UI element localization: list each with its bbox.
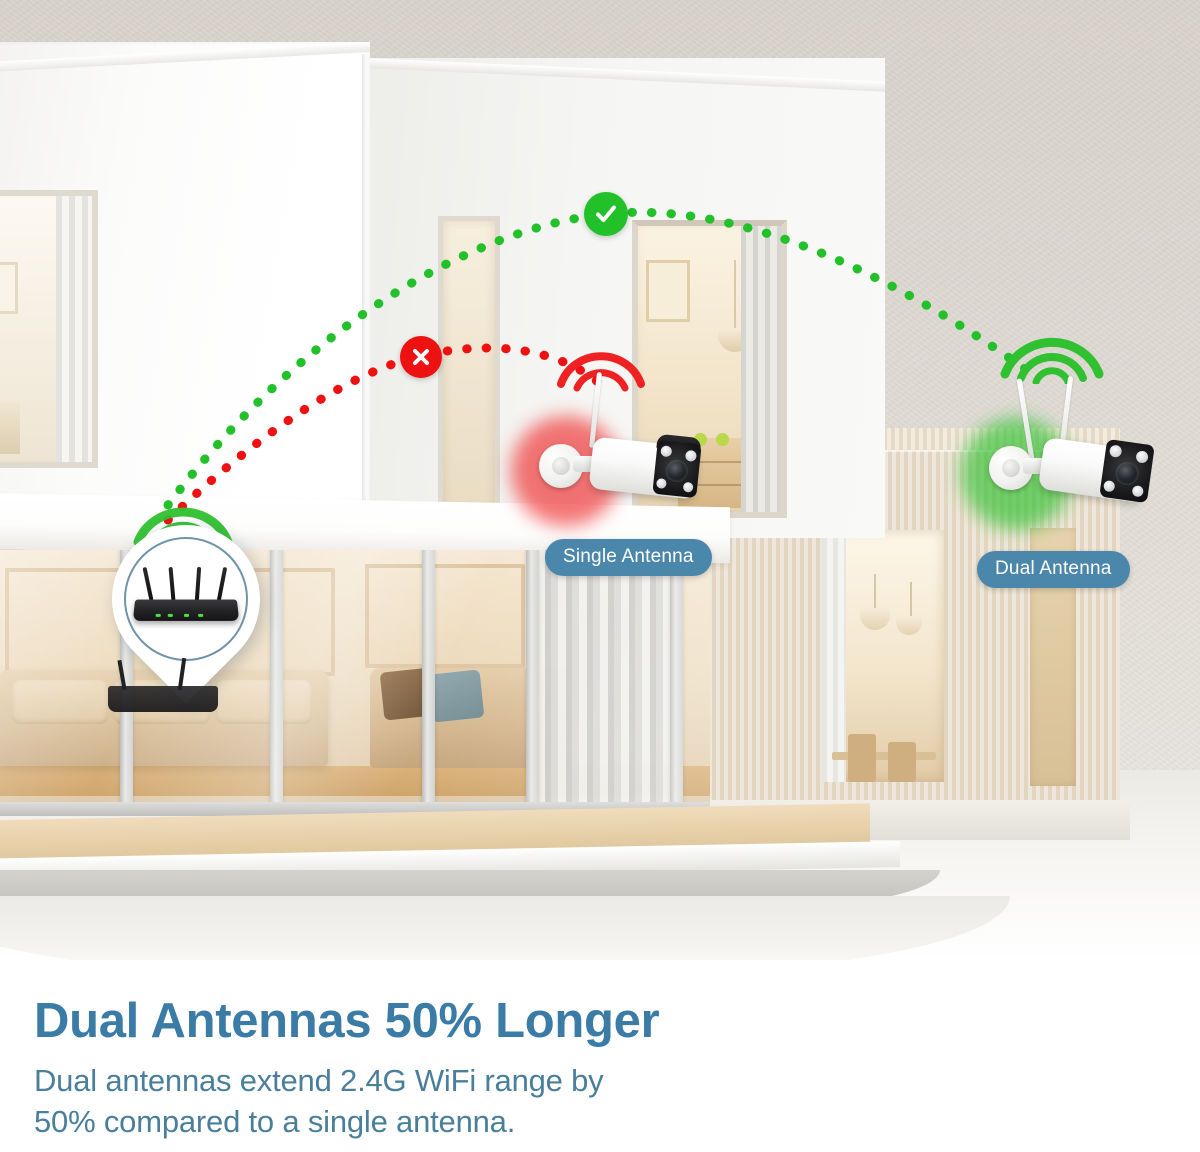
subheadline-line-1: Dual antennas extend 2.4G WiFi range by	[34, 1060, 603, 1101]
dual-camera-ir-led-3	[1103, 480, 1115, 492]
router-location-pin	[112, 525, 260, 710]
single-camera-lens	[665, 459, 689, 483]
dual-antenna-label: Dual Antenna	[977, 551, 1130, 588]
dual-antenna-camera	[955, 400, 1175, 560]
marketing-text-block: Dual Antennas 50% Longer Dual antennas e…	[0, 960, 1200, 1152]
dual-camera-ir-led-4	[1132, 485, 1144, 497]
headline: Dual Antennas 50% Longer	[34, 993, 659, 1049]
single-antenna-label: Single Antenna	[545, 539, 712, 576]
subheadline-line-2: 50% compared to a single antenna.	[34, 1101, 603, 1142]
house-scene: Single Antenna Dual Antenna	[0, 0, 1200, 960]
router-led-4	[198, 614, 203, 617]
check-mark-icon	[584, 192, 628, 236]
router-led-2	[168, 614, 173, 617]
router-reflection	[108, 686, 218, 712]
wifi-router-icon	[134, 577, 238, 623]
dual-camera-lens	[1114, 461, 1140, 487]
device-overlay: Single Antenna Dual Antenna	[0, 0, 1200, 960]
single-antenna-camera	[505, 400, 725, 560]
dual-camera-lens-panel	[1099, 439, 1155, 503]
router-antenna-3	[195, 567, 201, 601]
product-feature-image: Single Antenna Dual Antenna Dual Antenna…	[0, 0, 1200, 1152]
single-camera-wifi-icon	[553, 340, 649, 392]
subheadline: Dual antennas extend 2.4G WiFi range by …	[34, 1060, 603, 1142]
single-camera-ir-led-3	[656, 478, 667, 489]
router-body	[133, 600, 239, 621]
dual-camera-ir-led	[1109, 444, 1123, 458]
router-led-3	[184, 614, 189, 617]
router-led	[156, 614, 161, 617]
dual-camera-ir-led-2	[1135, 450, 1149, 464]
single-camera-ir-led	[660, 445, 672, 457]
single-camera-ir-led-2	[685, 450, 697, 462]
single-camera-ir-led-4	[683, 482, 694, 493]
dual-camera-wifi-icon	[997, 324, 1107, 384]
single-camera-lens-panel	[652, 440, 701, 498]
cross-mark-icon	[400, 336, 442, 378]
